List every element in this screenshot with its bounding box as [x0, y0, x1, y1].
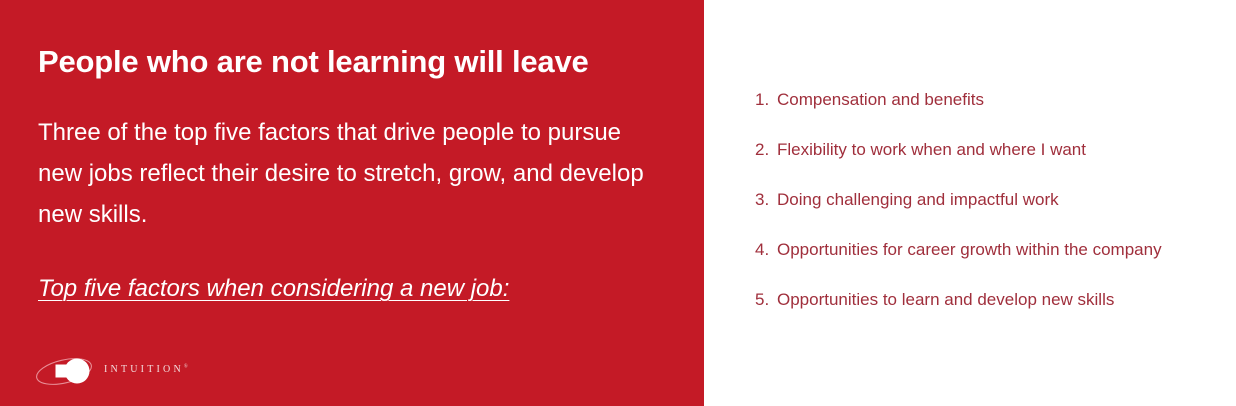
list-item-number: 1. — [755, 88, 777, 112]
orbit-circle-icon — [34, 352, 100, 390]
list-item-number: 3. — [755, 188, 777, 212]
list-item-label: Compensation and benefits — [777, 88, 984, 112]
intuition-logo: INTUITION® — [34, 352, 184, 390]
subheading: Top five factors when considering a new … — [38, 273, 668, 305]
list-item-label: Flexibility to work when and where I wan… — [777, 138, 1086, 162]
list-item-number: 2. — [755, 138, 777, 162]
page-title: People who are not learning will leave — [38, 43, 678, 81]
slide-canvas: People who are not learning will leave T… — [0, 0, 1236, 406]
list-item-number: 4. — [755, 238, 777, 262]
list-item-label: Opportunities for career growth within t… — [777, 238, 1162, 262]
list-item: 2. Flexibility to work when and where I … — [755, 138, 1235, 188]
list-item: 4. Opportunities for career growth withi… — [755, 238, 1235, 288]
list-item-label: Opportunities to learn and develop new s… — [777, 288, 1114, 312]
list-item: 5. Opportunities to learn and develop ne… — [755, 288, 1235, 338]
list-item-label: Doing challenging and impactful work — [777, 188, 1059, 212]
list-item: 3. Doing challenging and impactful work — [755, 188, 1235, 238]
list-item: 1. Compensation and benefits — [755, 88, 1235, 138]
list-item-number: 5. — [755, 288, 777, 312]
right-factors-panel: 1. Compensation and benefits 2. Flexibil… — [704, 0, 1236, 406]
body-paragraph: Three of the top five factors that drive… — [38, 112, 668, 235]
logo-wordmark: INTUITION® — [104, 364, 188, 375]
registered-mark: ® — [184, 365, 188, 370]
factors-list: 1. Compensation and benefits 2. Flexibil… — [755, 88, 1235, 338]
subheading-text: Top five factors when considering a new … — [38, 275, 509, 302]
left-red-panel: People who are not learning will leave T… — [0, 0, 704, 406]
logo-wordmark-text: INTUITION — [104, 364, 184, 375]
